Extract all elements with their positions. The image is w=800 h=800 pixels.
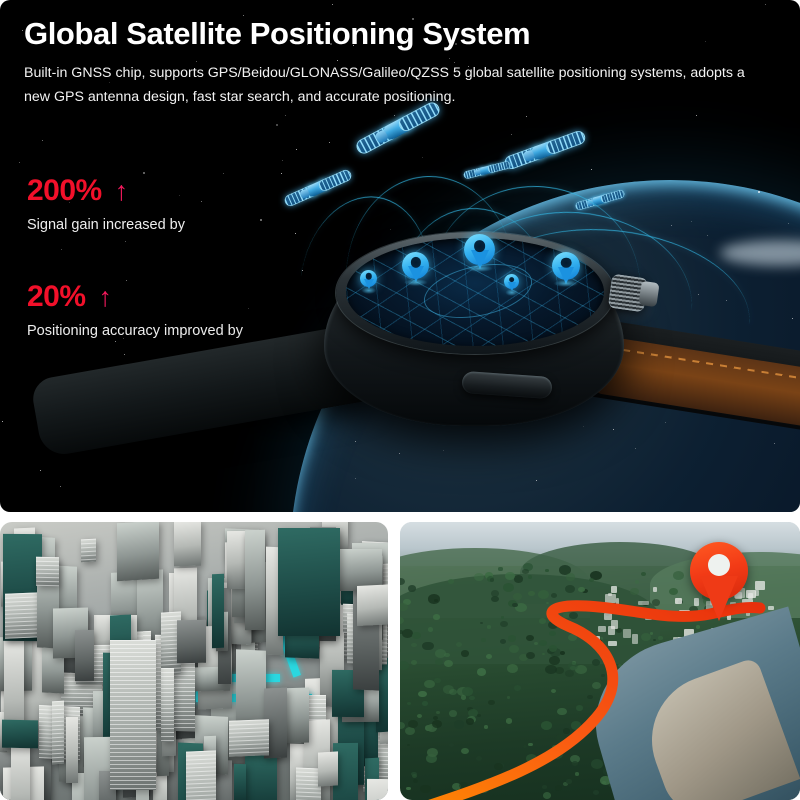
- building: [367, 779, 388, 800]
- pin-head: [360, 270, 377, 287]
- pin-glow: [505, 289, 519, 296]
- building: [161, 668, 174, 742]
- navigation-route: [400, 606, 760, 800]
- building: [177, 620, 206, 664]
- building: [81, 539, 96, 563]
- map-pin[interactable]: [504, 274, 519, 289]
- pin-head: [464, 234, 495, 265]
- pin-glow: [553, 280, 578, 287]
- solar-panel: [600, 189, 626, 204]
- panel-city-navigation: [0, 522, 388, 800]
- pin-head: [402, 252, 429, 279]
- building: [2, 720, 38, 749]
- map-pin-destination[interactable]: [690, 542, 748, 600]
- pin-head: [504, 274, 519, 289]
- building: [229, 719, 269, 757]
- building: [117, 522, 159, 581]
- map-pin[interactable]: [464, 234, 495, 265]
- tall-tower: [110, 640, 156, 790]
- hero-panel: Global Satellite Positioning System Buil…: [0, 0, 800, 512]
- pin-hole: [474, 240, 486, 252]
- satellite-icon: [454, 152, 520, 187]
- pin-hole: [561, 257, 572, 268]
- pin-glow: [466, 265, 494, 272]
- building: [36, 556, 59, 586]
- product-feature-page: Global Satellite Positioning System Buil…: [0, 0, 800, 800]
- building: [296, 767, 321, 800]
- pin-hole: [509, 277, 515, 283]
- building: [212, 574, 224, 648]
- pin-head: [552, 252, 580, 280]
- map-pin[interactable]: [360, 270, 377, 287]
- glass-tower: [278, 528, 340, 636]
- watch-crown-cap[interactable]: [638, 281, 659, 307]
- building: [357, 584, 388, 627]
- pin-glow: [403, 279, 427, 286]
- pin-hole: [410, 257, 420, 267]
- panel-coastal-navigation: [400, 522, 800, 800]
- building: [75, 630, 94, 681]
- solar-panel: [487, 160, 511, 173]
- solar-panel: [397, 100, 443, 134]
- building: [174, 522, 201, 567]
- building: [186, 751, 216, 800]
- map-pin[interactable]: [552, 252, 580, 280]
- pin-hole: [365, 273, 371, 279]
- map-pin[interactable]: [402, 252, 429, 279]
- smartwatch: [262, 232, 692, 482]
- building: [245, 530, 265, 631]
- building: [66, 717, 78, 782]
- pin-hole: [708, 554, 730, 576]
- building: [52, 701, 64, 765]
- solar-panel: [545, 129, 588, 156]
- pin-head: [690, 542, 748, 600]
- building: [11, 741, 30, 800]
- building: [234, 764, 246, 800]
- solar-panel: [317, 168, 353, 193]
- city-aerial-photo: [0, 522, 388, 800]
- building: [227, 531, 245, 589]
- building: [318, 751, 338, 786]
